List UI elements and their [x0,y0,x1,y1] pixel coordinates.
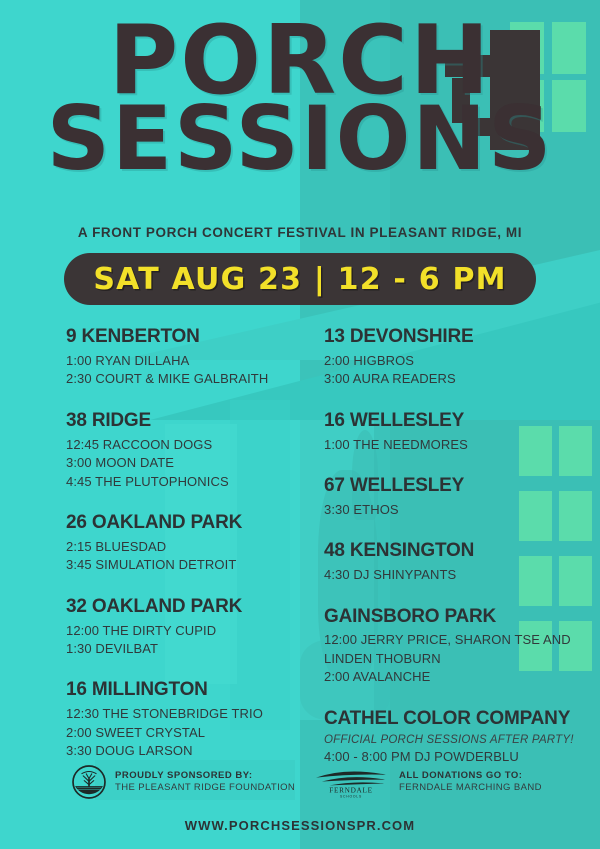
act-line: 3:30 DOUG LARSON [66,742,316,760]
act-line: 1:00 RYAN DILLAHA [66,352,316,370]
venue-name: 16 MILLINGTON [66,679,316,701]
donations-heading: ALL DONATIONS GO TO: [399,770,542,782]
sponsor-heading: PROUDLY SPONSORED BY: [115,770,295,782]
act-line: 12:30 THE STONEBRIDGE TRIO [66,705,316,723]
after-party-venue-name: CATHEL COLOR COMPANY [324,708,584,730]
svg-text:SCHOOLS: SCHOOLS [340,795,362,799]
ferndale-schools-logo-icon: FERNDALE SCHOOLS [312,765,390,799]
venue-block: 38 RIDGE 12:45 RACCOON DOGS 3:00 MOON DA… [66,410,316,491]
website-url[interactable]: WWW.PORCHSESSIONSPR.COM [0,818,600,833]
act-line: 1:30 DEVILBAT [66,640,316,658]
act-line: 3:30 ETHOS [324,501,584,519]
donations-block: FERNDALE SCHOOLS ALL DONATIONS GO TO: FE… [312,765,542,799]
tree-in-circle-icon [72,765,106,799]
venue-block: 26 OAKLAND PARK 2:15 BLUESDAD 3:45 SIMUL… [66,512,316,575]
schedule-columns: 9 KENBERTON 1:00 RYAN DILLAHA 2:30 COURT… [0,326,600,756]
act-line: 3:45 SIMULATION DETROIT [66,556,316,574]
venue-block: 48 KENSINGTON 4:30 DJ SHINYPANTS [324,540,584,584]
act-line: 4:30 DJ SHINYPANTS [324,566,584,584]
poster-title: PORCH SESSIONS [0,18,600,180]
act-line: 1:00 THE NEEDMORES [324,436,584,454]
date-time-banner: SAT AUG 23 | 12 - 6 PM [64,253,536,305]
venue-name: 16 WELLESLEY [324,410,584,432]
svg-text:FERNDALE: FERNDALE [329,787,372,795]
act-line: 12:00 JERRY PRICE, SHARON TSE AND LINDEN… [324,631,584,668]
venue-name: 32 OAKLAND PARK [66,596,316,618]
sponsor-block: PROUDLY SPONSORED BY: THE PLEASANT RIDGE… [72,765,295,799]
act-line: 2:00 AVALANCHE [324,668,584,686]
donations-name: FERNDALE MARCHING BAND [399,782,542,794]
venue-name: 48 KENSINGTON [324,540,584,562]
venue-block: 32 OAKLAND PARK 12:00 THE DIRTY CUPID 1:… [66,596,316,659]
after-party-note: OFFICIAL PORCH SESSIONS AFTER PARTY! [324,734,584,746]
act-line: 2:30 COURT & MIKE GALBRAITH [66,370,316,388]
poster-subtitle: A FRONT PORCH CONCERT FESTIVAL IN PLEASA… [0,225,600,240]
venue-name: 38 RIDGE [66,410,316,432]
venue-block: 9 KENBERTON 1:00 RYAN DILLAHA 2:30 COURT… [66,326,316,389]
venue-name: 67 WELLESLEY [324,475,584,497]
venue-block: GAINSBORO PARK 12:00 JERRY PRICE, SHARON… [324,606,584,687]
act-line: 2:00 SWEET CRYSTAL [66,724,316,742]
venue-name: 9 KENBERTON [66,326,316,348]
after-party-block: CATHEL COLOR COMPANY OFFICIAL PORCH SESS… [324,708,584,766]
schedule-column-right: 13 DEVONSHIRE 2:00 HIGBROS 3:00 AURA REA… [324,326,584,787]
date-time-text: SAT AUG 23 | 12 - 6 PM [93,262,506,297]
donations-text: ALL DONATIONS GO TO: FERNDALE MARCHING B… [399,770,542,795]
act-line: 12:00 THE DIRTY CUPID [66,622,316,640]
venue-block: 16 MILLINGTON 12:30 THE STONEBRIDGE TRIO… [66,679,316,760]
act-line: 3:00 AURA READERS [324,370,584,388]
venue-block: 13 DEVONSHIRE 2:00 HIGBROS 3:00 AURA REA… [324,326,584,389]
venue-block: 16 WELLESLEY 1:00 THE NEEDMORES [324,410,584,454]
act-line: 2:15 BLUESDAD [66,538,316,556]
sponsor-text: PROUDLY SPONSORED BY: THE PLEASANT RIDGE… [115,770,295,795]
poster-canvas: PORCH SESSIONS A FRONT PORCH CONCERT FES… [0,0,600,849]
venue-name: 26 OAKLAND PARK [66,512,316,534]
venue-block: 67 WELLESLEY 3:30 ETHOS [324,475,584,519]
act-line: 12:45 RACCOON DOGS [66,436,316,454]
venue-name: 13 DEVONSHIRE [324,326,584,348]
act-line: 4:45 THE PLUTOPHONICS [66,473,316,491]
act-line: 3:00 MOON DATE [66,454,316,472]
sponsor-name: THE PLEASANT RIDGE FOUNDATION [115,782,295,794]
poster-footer: PROUDLY SPONSORED BY: THE PLEASANT RIDGE… [0,762,600,822]
schedule-column-left: 9 KENBERTON 1:00 RYAN DILLAHA 2:30 COURT… [66,326,316,782]
venue-name: GAINSBORO PARK [324,606,584,628]
title-line-sessions: SESSIONS [0,99,600,180]
act-line: 2:00 HIGBROS [324,352,584,370]
